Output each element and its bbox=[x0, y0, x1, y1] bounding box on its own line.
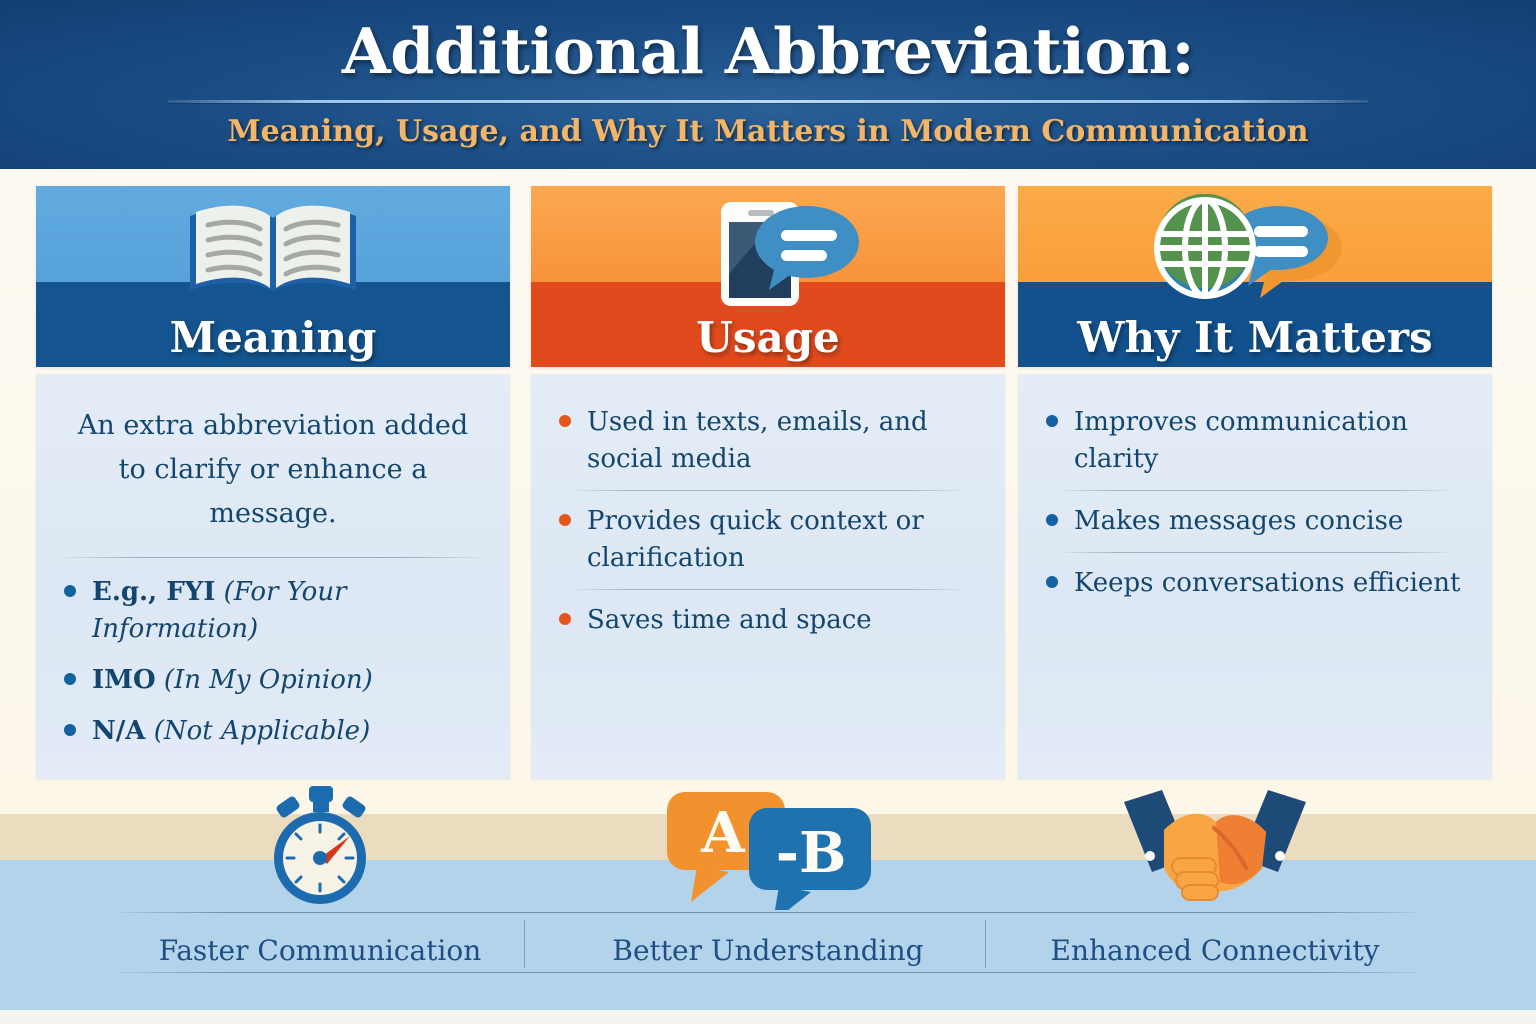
open-book-icon bbox=[178, 194, 368, 311]
column-header-usage: Usage bbox=[531, 186, 1005, 367]
benefit-divider bbox=[1060, 552, 1450, 553]
phone-chat-icon bbox=[673, 194, 863, 311]
column-why-it-matters: Why It Matters Improves communication cl… bbox=[1018, 186, 1492, 779]
usage-divider bbox=[573, 490, 963, 491]
abbreviation-label: N/A bbox=[92, 716, 145, 746]
chat-bubbles-ab-icon: A -B bbox=[553, 780, 983, 910]
abbreviation-label: E.g., FYI bbox=[92, 577, 215, 607]
footer-label: Better Understanding bbox=[553, 934, 983, 967]
page-title: Additional Abbreviation: bbox=[0, 14, 1536, 88]
benefit-item-text: Keeps conversations efficient bbox=[1074, 568, 1460, 598]
infographic-canvas: Additional Abbreviation: Meaning, Usage,… bbox=[0, 0, 1536, 1024]
svg-text:A: A bbox=[700, 800, 746, 866]
footer-label: Enhanced Connectivity bbox=[1000, 934, 1430, 967]
benefit-divider bbox=[1060, 490, 1450, 491]
bullet-dot bbox=[1046, 415, 1058, 427]
usage-divider bbox=[573, 589, 963, 590]
footer-label: Faster Communication bbox=[105, 934, 535, 967]
footer-divider-right bbox=[985, 920, 986, 968]
bullet-dot bbox=[559, 613, 571, 625]
bullet-dot bbox=[559, 415, 571, 427]
list-item: Makes messages concise bbox=[1044, 503, 1466, 540]
footer-cell-better-understanding: A -B Better Understanding bbox=[553, 780, 983, 967]
list-item: Saves time and space bbox=[557, 602, 979, 639]
title-divider bbox=[168, 100, 1368, 103]
abbreviation-label: IMO bbox=[92, 665, 156, 695]
usage-item-text: Saves time and space bbox=[587, 605, 872, 635]
column-title-why-it-matters: Why It Matters bbox=[1018, 317, 1492, 359]
usage-item-text: Used in texts, emails, and social media bbox=[587, 407, 928, 474]
bullet-dot bbox=[64, 724, 76, 736]
meaning-list: E.g., FYI (For Your Information) IMO (In… bbox=[62, 574, 484, 750]
meaning-description: An extra abbreviation added to clarify o… bbox=[62, 404, 484, 536]
bullet-dot bbox=[64, 585, 76, 597]
footer-cell-faster-communication: Faster Communication bbox=[105, 780, 535, 967]
list-item: Keeps conversations efficient bbox=[1044, 565, 1466, 602]
abbreviation-expansion: (Not Applicable) bbox=[154, 716, 371, 746]
list-item: IMO (In My Opinion) bbox=[62, 662, 484, 699]
meaning-divider bbox=[66, 557, 480, 558]
benefit-item-text: Improves communication clarity bbox=[1074, 407, 1408, 474]
bullet-dot bbox=[1046, 576, 1058, 588]
column-body-why-it-matters: Improves communication clarity Makes mes… bbox=[1018, 374, 1492, 779]
header-banner: Additional Abbreviation: Meaning, Usage,… bbox=[0, 0, 1536, 169]
list-item: Used in texts, emails, and social media bbox=[557, 404, 979, 478]
benefit-item-text: Makes messages concise bbox=[1074, 506, 1403, 536]
column-title-usage: Usage bbox=[531, 317, 1005, 359]
footer-rule-bottom bbox=[118, 972, 1418, 973]
column-header-meaning: Meaning bbox=[36, 186, 510, 367]
column-body-usage: Used in texts, emails, and social media … bbox=[531, 374, 1005, 779]
svg-text:-B: -B bbox=[776, 820, 847, 886]
column-usage: Usage Used in texts, emails, and social … bbox=[531, 186, 1005, 779]
bullet-dot bbox=[1046, 514, 1058, 526]
list-item: N/A (Not Applicable) bbox=[62, 713, 484, 750]
stopwatch-icon bbox=[105, 780, 535, 910]
bullet-dot bbox=[559, 514, 571, 526]
footer-divider-left bbox=[524, 920, 525, 968]
abbreviation-expansion: (In My Opinion) bbox=[164, 665, 373, 695]
globe-chat-icon bbox=[1150, 194, 1360, 311]
usage-item-text: Provides quick context or clarification bbox=[587, 506, 924, 573]
handshake-icon bbox=[1000, 780, 1430, 910]
list-item: Improves communication clarity bbox=[1044, 404, 1466, 478]
footer-benefits: Faster Communication A -B Bette bbox=[0, 780, 1536, 1024]
list-item: E.g., FYI (For Your Information) bbox=[62, 574, 484, 648]
column-body-meaning: An extra abbreviation added to clarify o… bbox=[36, 374, 510, 779]
bullet-dot bbox=[64, 673, 76, 685]
footer-cell-enhanced-connectivity: Enhanced Connectivity bbox=[1000, 780, 1430, 967]
column-meaning: Meaning An extra abbreviation added to c… bbox=[36, 186, 510, 779]
page-subtitle: Meaning, Usage, and Why It Matters in Mo… bbox=[0, 114, 1536, 149]
list-item: Provides quick context or clarification bbox=[557, 503, 979, 577]
column-title-meaning: Meaning bbox=[36, 317, 510, 359]
footer-rule-top bbox=[118, 912, 1418, 913]
column-header-why-it-matters: Why It Matters bbox=[1018, 186, 1492, 367]
